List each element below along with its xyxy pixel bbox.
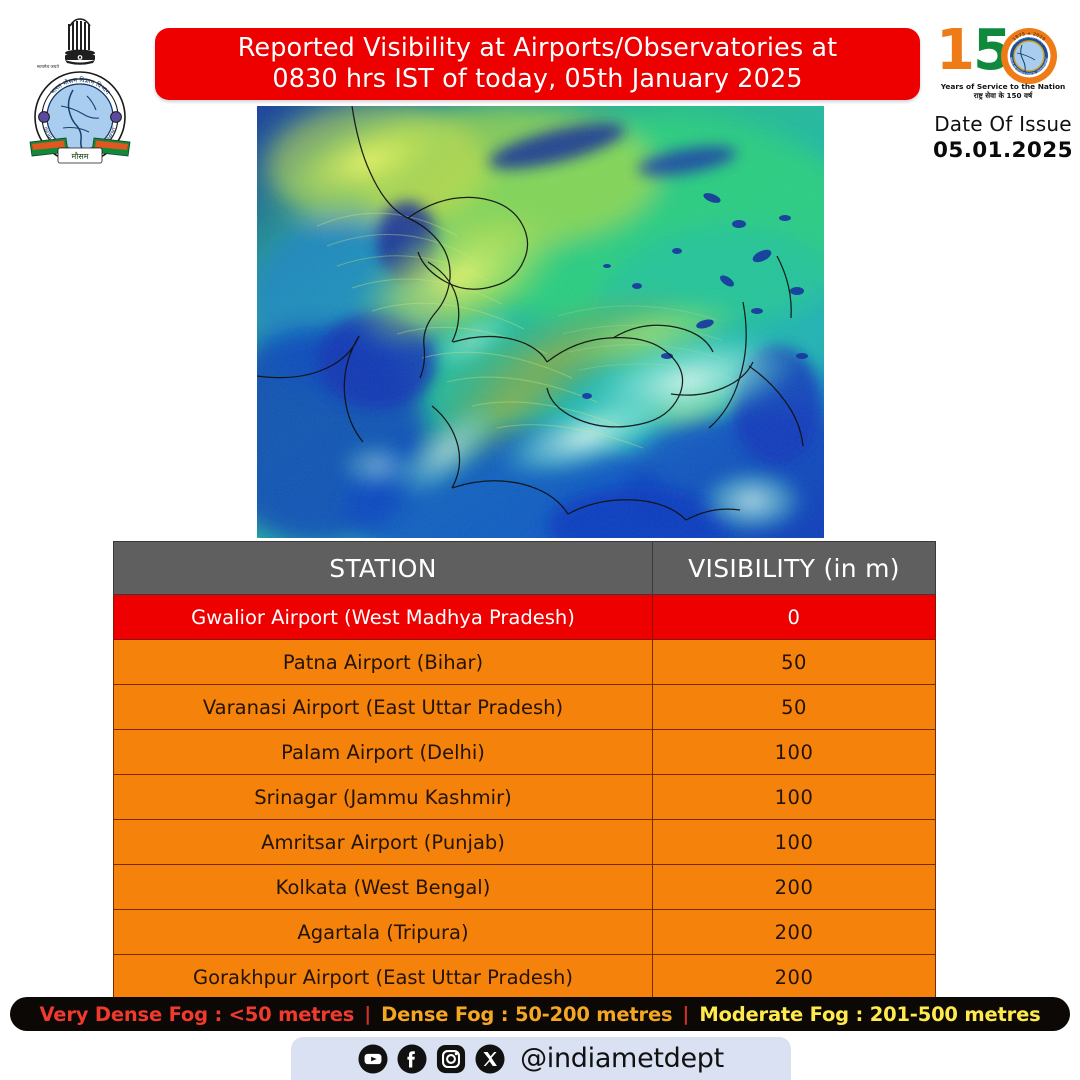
cell-visibility: 100: [653, 820, 936, 865]
satellite-fog-image: [257, 106, 824, 538]
page-title-banner: Reported Visibility at Airports/Observat…: [155, 28, 920, 100]
facebook-icon[interactable]: [397, 1044, 427, 1074]
date-of-issue-label: Date Of Issue: [930, 112, 1076, 136]
cell-visibility: 50: [653, 685, 936, 730]
cell-station: Palam Airport (Delhi): [114, 730, 653, 775]
table-row: Agartala (Tripura)200: [114, 910, 936, 955]
cell-station: Gorakhpur Airport (East Uttar Pradesh): [114, 955, 653, 1000]
150-number: 15: [936, 22, 1010, 80]
anniversary-block: 15 1875 ★ 2025 भारत मौसम विज्ञान विभाग: [930, 20, 1076, 175]
satellite-image-canvas: [257, 106, 824, 538]
table-row: Varanasi Airport (East Uttar Pradesh)50: [114, 685, 936, 730]
cell-visibility: 100: [653, 730, 936, 775]
infographic-page: सत्यमेव जयते भारत मौसम विज्ञान विभाग IND…: [0, 0, 1080, 1080]
cell-visibility: 0: [653, 595, 936, 640]
youtube-icon[interactable]: [358, 1044, 388, 1074]
imd-anniversary-ring-icon: 1875 ★ 2025 भारत मौसम विज्ञान विभाग INDI…: [1000, 27, 1058, 85]
cell-station: Srinagar (Jammu Kashmir): [114, 775, 653, 820]
cell-visibility: 200: [653, 910, 936, 955]
table-row: Patna Airport (Bihar)50: [114, 640, 936, 685]
instagram-icon[interactable]: [436, 1044, 466, 1074]
cell-visibility: 200: [653, 865, 936, 910]
legend-very-dense-fog: Very Dense Fog : <50 metres: [39, 1003, 354, 1026]
social-footer: @indiametdept: [291, 1037, 791, 1080]
social-handle[interactable]: @indiametdept: [520, 1043, 724, 1074]
anniversary-tagline-en: Years of Service to the Nation: [930, 82, 1076, 91]
visibility-table: STATION VISIBILITY (in m) Gwalior Airpor…: [113, 541, 936, 1000]
imd-logo: सत्यमेव जयते भारत मौसम विज्ञान विभाग IND…: [22, 18, 138, 168]
legend-dense-fog: Dense Fog : 50-200 metres: [381, 1003, 672, 1026]
anniversary-tagline-hi: राष्ट्र सेवा के 150 वर्ष: [930, 91, 1076, 101]
cell-visibility: 200: [653, 955, 936, 1000]
x-twitter-icon[interactable]: [475, 1044, 505, 1074]
imd-ribbon: मौसम: [28, 136, 132, 168]
fog-legend-bar: Very Dense Fog : <50 metres | Dense Fog …: [10, 997, 1070, 1031]
table-row: Kolkata (West Bengal)200: [114, 865, 936, 910]
svg-text:मौसम: मौसम: [71, 151, 88, 161]
page-title: Reported Visibility at Airports/Observat…: [238, 33, 837, 95]
column-header-station: STATION: [114, 542, 653, 595]
legend-separator-2: |: [672, 1003, 699, 1025]
table-row: Amritsar Airport (Punjab)100: [114, 820, 936, 865]
cell-station: Agartala (Tripura): [114, 910, 653, 955]
cell-station: Varanasi Airport (East Uttar Pradesh): [114, 685, 653, 730]
cell-station: Kolkata (West Bengal): [114, 865, 653, 910]
table-row: Srinagar (Jammu Kashmir)100: [114, 775, 936, 820]
table-body: Gwalior Airport (West Madhya Pradesh)0Pa…: [114, 595, 936, 1000]
cell-visibility: 50: [653, 640, 936, 685]
table-row: Gorakhpur Airport (East Uttar Pradesh)20…: [114, 955, 936, 1000]
table-row: Palam Airport (Delhi)100: [114, 730, 936, 775]
cell-station: Gwalior Airport (West Madhya Pradesh): [114, 595, 653, 640]
table-row: Gwalior Airport (West Madhya Pradesh)0: [114, 595, 936, 640]
cell-station: Patna Airport (Bihar): [114, 640, 653, 685]
cell-station: Amritsar Airport (Punjab): [114, 820, 653, 865]
cell-visibility: 100: [653, 775, 936, 820]
table-header-row: STATION VISIBILITY (in m): [114, 542, 936, 595]
column-header-visibility: VISIBILITY (in m): [653, 542, 936, 595]
legend-moderate-fog: Moderate Fog : 201-500 metres: [699, 1003, 1040, 1026]
date-of-issue-value: 05.01.2025: [930, 138, 1076, 163]
digit-1: 1: [936, 18, 973, 83]
legend-separator-1: |: [354, 1003, 381, 1025]
150-years-logo: 15 1875 ★ 2025 भारत मौसम विज्ञान विभाग: [930, 20, 1076, 106]
